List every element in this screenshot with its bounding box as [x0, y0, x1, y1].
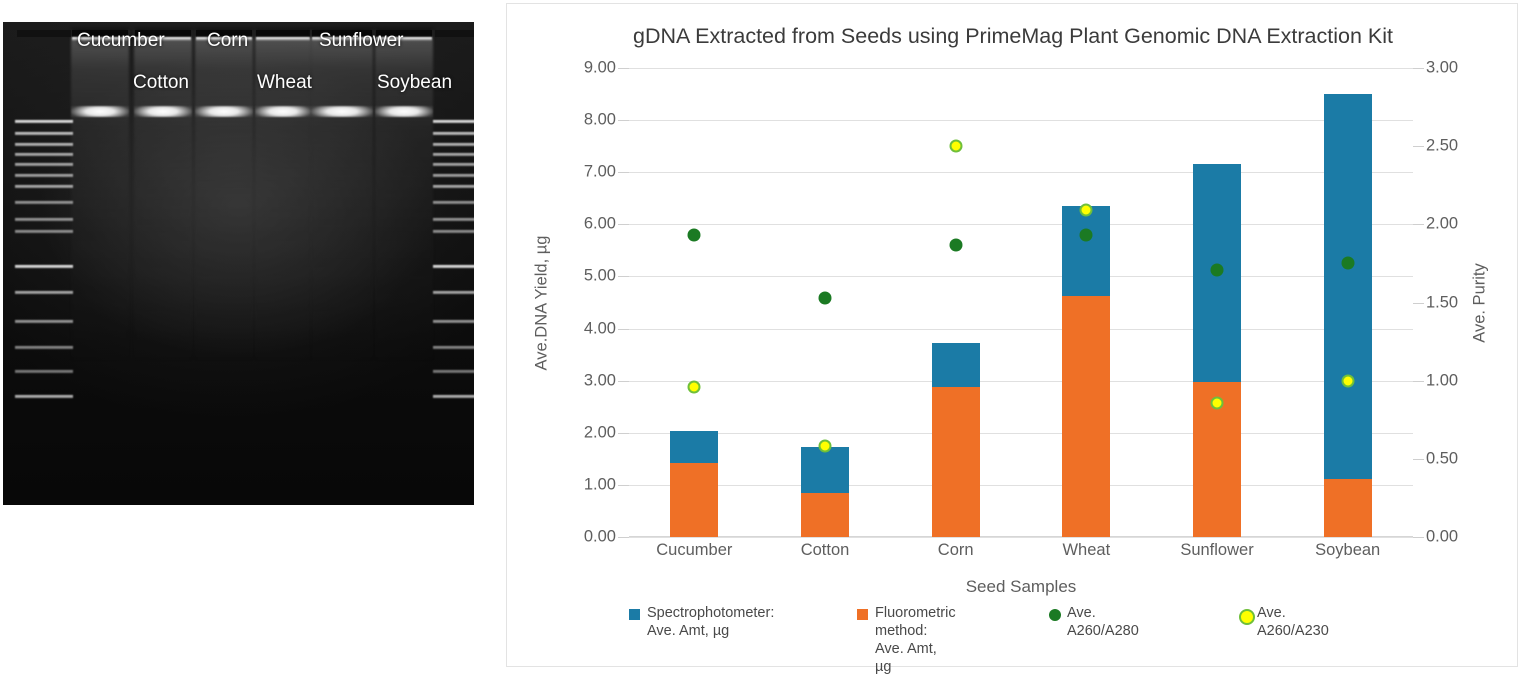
gel-lane-sample — [375, 22, 433, 505]
gel-ladder-band — [433, 218, 474, 221]
gel-ladder-band — [15, 174, 73, 177]
gel-ladder-band — [433, 174, 474, 177]
y-axis-right-tick-mark — [1413, 537, 1424, 538]
chart-panel: gDNA Extracted from Seeds using PrimeMag… — [506, 3, 1518, 667]
scatter-marker-a260-a230[interactable] — [1080, 204, 1093, 217]
bar-group[interactable] — [670, 68, 718, 537]
gel-main-band — [195, 106, 253, 117]
bar-group[interactable] — [1193, 68, 1241, 537]
gel-ladder-band — [433, 163, 474, 166]
gel-lane-label: Soybean — [377, 72, 452, 94]
gel-ladder-band — [15, 230, 73, 233]
y-axis-left-tick-label: 3.00 — [584, 371, 616, 390]
y-axis-right-tick-mark — [1413, 224, 1424, 225]
gel-ladder-band — [433, 153, 474, 156]
y-axis-left-tick-mark — [618, 224, 629, 225]
gel-lane-sample — [195, 22, 253, 505]
gel-ladder-well — [435, 30, 474, 37]
legend-label: Ave. A260/A280 — [1067, 604, 1139, 640]
y-axis-left-tick-mark — [618, 381, 629, 382]
y-axis-right-title: Ave. Purity — [1469, 68, 1491, 537]
y-axis-left-tick-mark — [618, 329, 629, 330]
scatter-marker-a260-a280[interactable] — [1341, 257, 1354, 270]
gel-ladder-band — [433, 185, 474, 188]
gridline — [629, 172, 1413, 173]
gel-ladder-band — [433, 132, 474, 135]
gel-lane-smear — [71, 30, 129, 360]
y-axis-left-tick-label: 2.00 — [584, 423, 616, 442]
scatter-marker-a260-a280[interactable] — [819, 291, 832, 304]
bar-segment-spectrophotometer[interactable] — [670, 431, 718, 463]
gel-ladder-band — [15, 143, 73, 146]
y-axis-right-title-text: Ave. Purity — [1471, 263, 1490, 342]
gel-main-band — [134, 106, 192, 117]
gel-ladder-band — [15, 218, 73, 221]
y-axis-left-title-text: Ave.DNA Yield, µg — [533, 235, 552, 370]
bar-segment-spectrophotometer[interactable] — [932, 343, 980, 387]
y-axis-left-tick-mark — [618, 68, 629, 69]
gel-ladder-band — [433, 120, 474, 123]
y-axis-right-tick-label: 1.00 — [1426, 371, 1458, 390]
gel-ladder-band — [433, 265, 474, 268]
legend-swatch-square — [629, 609, 640, 620]
y-axis-left-tick-mark — [618, 120, 629, 121]
x-axis-title: Seed Samples — [629, 577, 1413, 597]
gel-well — [256, 30, 310, 37]
y-axis-left-tick-label: 5.00 — [584, 267, 616, 286]
y-axis-left-tick-mark — [618, 276, 629, 277]
gel-ladder-band — [15, 120, 73, 123]
gel-lane-sample — [71, 22, 129, 505]
gridline — [629, 381, 1413, 382]
gel-ladder-band — [433, 143, 474, 146]
bar-segment-spectrophotometer[interactable] — [1324, 94, 1372, 479]
gel-lane-label: Corn — [207, 30, 248, 52]
y-axis-right-tick-label: 2.00 — [1426, 215, 1458, 234]
y-axis-right-tick-mark — [1413, 303, 1424, 304]
bar-group[interactable] — [1062, 68, 1110, 537]
gel-ladder-band — [15, 185, 73, 188]
gel-ladder-band — [15, 346, 73, 349]
scatter-marker-a260-a230[interactable] — [1211, 396, 1224, 409]
gel-lane-label: Cucumber — [77, 30, 165, 52]
gel-lane-label: Cotton — [133, 72, 189, 94]
gel-ladder-lane — [15, 22, 73, 505]
y-axis-left-tick-label: 9.00 — [584, 59, 616, 78]
scatter-marker-a260-a230[interactable] — [949, 140, 962, 153]
gel-lane-smear — [195, 30, 253, 360]
scatter-marker-a260-a280[interactable] — [1211, 263, 1224, 276]
gridline — [629, 120, 1413, 121]
gel-ladder-band — [433, 201, 474, 204]
scatter-marker-a260-a280[interactable] — [949, 238, 962, 251]
gel-ladder-band — [433, 230, 474, 233]
gel-ladder-band — [15, 265, 73, 268]
y-axis-left-tick-mark — [618, 433, 629, 434]
y-axis-right-tick-mark — [1413, 68, 1424, 69]
gel-ladder-band — [15, 291, 73, 294]
y-axis-left-tick-mark — [618, 485, 629, 486]
gridline — [629, 329, 1413, 330]
scatter-marker-a260-a230[interactable] — [688, 380, 701, 393]
bar-segment-fluorometric[interactable] — [801, 493, 849, 537]
gridline — [629, 68, 1413, 69]
y-axis-left-tick-label: 8.00 — [584, 111, 616, 130]
gel-lane-sample — [134, 22, 192, 505]
gridline — [629, 276, 1413, 277]
legend-label: Ave. A260/A230 — [1257, 604, 1329, 640]
y-axis-left-tick-label: 4.00 — [584, 319, 616, 338]
x-axis-tick-label: Cotton — [801, 541, 850, 560]
y-axis-left-tick-mark — [618, 537, 629, 538]
y-axis-left-title: Ave.DNA Yield, µg — [531, 68, 553, 537]
gel-photograph: CucumberCornSunflowerCottonWheatSoybean — [3, 22, 474, 505]
legend-swatch-circle — [1049, 609, 1061, 621]
gridline — [629, 433, 1413, 434]
x-axis-tick-label: Wheat — [1062, 541, 1110, 560]
legend-swatch-square — [857, 609, 868, 620]
x-axis-tick-label: Soybean — [1315, 541, 1380, 560]
gel-ladder-band — [15, 395, 73, 398]
gel-lane-sample — [311, 22, 373, 505]
gel-genomic-band — [256, 37, 311, 41]
gel-ladder-band — [15, 370, 73, 373]
gel-ladder-band — [15, 163, 73, 166]
gridline — [629, 537, 1413, 538]
y-axis-left-tick-label: 1.00 — [584, 475, 616, 494]
bar-segment-fluorometric[interactable] — [1324, 479, 1372, 537]
y-axis-right-tick-mark — [1413, 381, 1424, 382]
y-axis-right-tick-label: 3.00 — [1426, 59, 1458, 78]
y-axis-left-tick-label: 7.00 — [584, 163, 616, 182]
gel-ladder-band — [433, 346, 474, 349]
legend-swatch-circle — [1239, 609, 1255, 625]
y-axis-right-tick-label: 0.50 — [1426, 449, 1458, 468]
bar-group[interactable] — [1324, 68, 1372, 537]
chart-legend: Spectrophotometer: Ave. Amt, µgFluoromet… — [629, 604, 1413, 652]
gel-main-band — [375, 106, 433, 117]
bar-segment-fluorometric[interactable] — [932, 387, 980, 537]
chart-title: gDNA Extracted from Seeds using PrimeMag… — [507, 24, 1519, 49]
bar-segment-fluorometric[interactable] — [1062, 296, 1110, 537]
gel-ladder-well — [17, 30, 71, 37]
gel-ladder-band — [15, 320, 73, 323]
x-axis-tick-label: Cucumber — [656, 541, 732, 560]
gel-main-band — [255, 106, 311, 117]
bar-segment-spectrophotometer[interactable] — [1062, 206, 1110, 296]
legend-label: Spectrophotometer: Ave. Amt, µg — [647, 604, 774, 640]
y-axis-right-tick-label: 2.50 — [1426, 137, 1458, 156]
x-axis-tick-label: Corn — [938, 541, 974, 560]
gel-ladder-lane — [433, 22, 474, 505]
bar-group[interactable] — [932, 68, 980, 537]
bar-segment-fluorometric[interactable] — [670, 463, 718, 537]
gel-ladder-band — [433, 370, 474, 373]
gel-ladder-band — [433, 320, 474, 323]
gel-ladder-band — [433, 395, 474, 398]
bar-segment-spectrophotometer[interactable] — [801, 447, 849, 493]
scatter-marker-a260-a280[interactable] — [688, 229, 701, 242]
scatter-marker-a260-a280[interactable] — [1080, 229, 1093, 242]
gel-image-panel: CucumberCornSunflowerCottonWheatSoybean — [0, 0, 477, 508]
x-axis-tick-label: Sunflower — [1180, 541, 1253, 560]
legend-label: Fluorometric method: Ave. Amt, µg — [875, 604, 956, 676]
gel-ladder-band — [15, 132, 73, 135]
gel-lane-sample — [255, 22, 311, 505]
gel-lane-label: Wheat — [257, 72, 312, 94]
y-axis-left-tick-mark — [618, 172, 629, 173]
gridline — [629, 485, 1413, 486]
gridline — [629, 224, 1413, 225]
gel-main-band — [311, 106, 373, 117]
y-axis-left-tick-label: 0.00 — [584, 528, 616, 547]
gel-ladder-band — [15, 201, 73, 204]
gel-ladder-band — [433, 291, 474, 294]
gel-main-band — [71, 106, 129, 117]
gel-ladder-band — [15, 153, 73, 156]
y-axis-right-tick-label: 1.50 — [1426, 293, 1458, 312]
gel-lane-smear — [311, 30, 373, 360]
scatter-marker-a260-a230[interactable] — [1341, 374, 1354, 387]
y-axis-right-tick-mark — [1413, 146, 1424, 147]
y-axis-right-tick-mark — [1413, 459, 1424, 460]
plot-area: Seed Samples 0.001.002.003.004.005.006.0… — [629, 68, 1413, 537]
y-axis-right-tick-label: 0.00 — [1426, 528, 1458, 547]
scatter-marker-a260-a230[interactable] — [819, 440, 832, 453]
gel-lane-label: Sunflower — [319, 30, 404, 52]
y-axis-left-tick-label: 6.00 — [584, 215, 616, 234]
